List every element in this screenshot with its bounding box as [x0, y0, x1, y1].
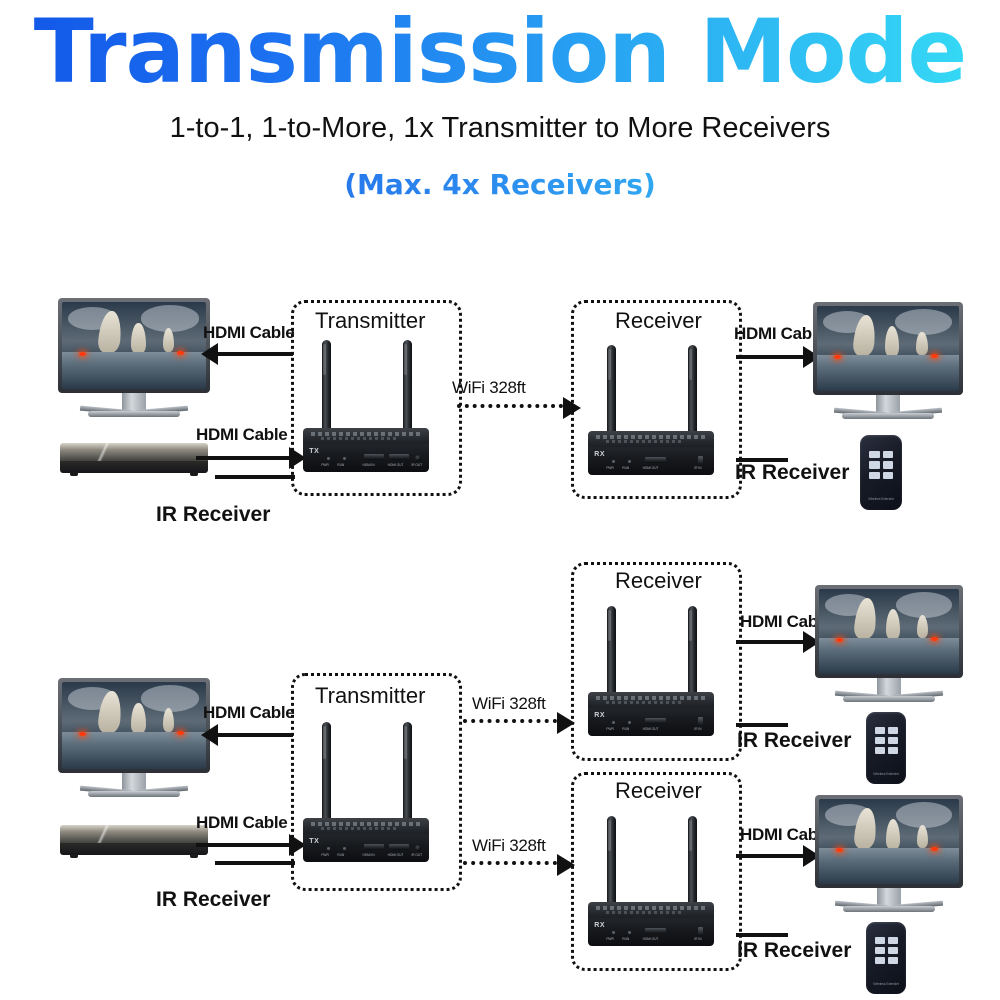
port-hdmi-out-2 — [389, 844, 409, 850]
remote-key[interactable] — [869, 461, 880, 468]
label-transmitter-2: Transmitter — [315, 683, 425, 709]
port-ir-in-1 — [698, 456, 703, 464]
remote-key[interactable] — [888, 957, 898, 964]
port-hdmi-out-1 — [389, 454, 409, 460]
port-hdmi-out-rx-1 — [645, 457, 666, 463]
receiver-device-bottom-2: RX PWR RUN HDMI OUT IR IN — [588, 816, 714, 946]
arrow-source-to-tx-2 — [196, 843, 290, 847]
remote-key[interactable] — [888, 727, 898, 734]
label-ir-receiver-1: IR Receiver — [156, 503, 270, 527]
remote-control-top-2[interactable]: Wireless Extender — [866, 712, 906, 784]
label-receiver-top-2: Receiver — [615, 568, 702, 594]
port-hdmi-in-1 — [364, 454, 384, 460]
label-hdmi-cable-source-2: HDMI Cable — [196, 813, 287, 833]
media-player-device — [60, 443, 208, 473]
label-ir-receiver-out-1: IR Receiver — [735, 461, 849, 485]
label-receiver-bottom-2: Receiver — [615, 778, 702, 804]
page-title: Transmission Mode — [0, 6, 1000, 98]
device-tag-tx-1: TX — [309, 448, 319, 455]
remote-key[interactable] — [875, 937, 885, 944]
port-label-pwr-1: PWR — [321, 463, 328, 467]
transmitter-device-2: TX PWR RUN HDMI IN HDMI OUT IR OUT — [303, 722, 429, 862]
label-wifi-bottom-2: WiFi 328ft — [472, 836, 546, 856]
monitor-bezel — [58, 298, 210, 393]
label-ir-receiver-out-bottom-2: IR Receiver — [737, 939, 851, 963]
port-ir-out-1 — [415, 455, 421, 461]
label-hdmi-cable-monitor-1: HDMI Cable — [203, 323, 294, 343]
port-label-run-rx-top-2: RUN — [622, 727, 629, 731]
label-receiver-1: Receiver — [615, 308, 702, 334]
monitor-base — [88, 411, 180, 417]
arrow-source-to-tx-1 — [196, 456, 290, 460]
port-label-pwr-rx-bottom-2: PWR — [606, 937, 613, 941]
port-label-run-2: RUN — [337, 853, 344, 857]
port-label-hdmi-out-rx-bottom-2: HDMI OUT — [643, 937, 659, 941]
port-label-pwr-rx-top-2: PWR — [606, 727, 613, 731]
label-transmitter-1: Transmitter — [315, 308, 425, 334]
port-label-hdmi-in-2: HDMI IN — [363, 853, 375, 857]
remote-key[interactable] — [875, 957, 885, 964]
label-hdmi-cable-monitor-2: HDMI Cable — [203, 703, 294, 723]
arrow-rx-to-monitor-top-2 — [736, 640, 804, 644]
page-subtitle-max: (Max. 4x Receivers) — [0, 168, 1000, 201]
monitor-display — [58, 298, 210, 418]
receiver-device-top-2: RX PWR RUN HDMI OUT IR IN — [588, 606, 714, 736]
monitor-screen-out-bottom-2 — [819, 799, 959, 884]
remote-key[interactable] — [875, 747, 885, 754]
remote-brand-1: Wireless Extender — [860, 497, 902, 501]
line-ir-to-tx-2 — [215, 861, 295, 865]
dotted-arrow-wifi-top-2 — [463, 719, 557, 723]
line-ir-to-tx-1 — [215, 475, 295, 479]
remote-control-1[interactable]: Wireless Extender — [860, 435, 902, 510]
port-label-hdmi-out-2: HDMI OUT — [388, 853, 404, 857]
port-label-run-rx-bottom-2: RUN — [622, 937, 629, 941]
port-ir-in-top-2 — [698, 717, 703, 725]
remote-control-bottom-2[interactable]: Wireless Extender — [866, 922, 906, 994]
port-hdmi-in-2 — [364, 844, 384, 850]
remote-key[interactable] — [888, 947, 898, 954]
arrow-hdmi-to-monitor-1 — [217, 352, 293, 356]
port-label-ir-in-1: IR IN — [694, 466, 701, 470]
remote-key[interactable] — [875, 947, 885, 954]
monitor-screen-out-top-2 — [819, 589, 959, 674]
label-hdmi-cable-source-1: HDMI Cable — [196, 425, 287, 445]
port-label-hdmi-out-rx-1: HDMI OUT — [643, 466, 659, 470]
remote-key[interactable] — [869, 472, 880, 479]
label-ir-receiver-out-top-2: IR Receiver — [737, 729, 851, 753]
label-ir-receiver-2: IR Receiver — [156, 888, 270, 912]
port-label-hdmi-out-1: HDMI OUT — [388, 463, 404, 467]
port-label-pwr-2: PWR — [321, 853, 328, 857]
page-header: Transmission Mode 1-to-1, 1-to-More, 1x … — [0, 0, 1000, 230]
monitor-display-out-top-2 — [815, 585, 963, 703]
label-hdmi-cable-out-1: HDMI Cable — [734, 324, 825, 344]
port-ir-in-bottom-2 — [698, 927, 703, 935]
media-player-device-2 — [60, 825, 208, 855]
remote-key[interactable] — [875, 737, 885, 744]
device-tag-rx-top-2: RX — [594, 712, 605, 719]
remote-key[interactable] — [883, 451, 894, 458]
arrow-hdmi-to-monitor-2 — [217, 733, 293, 737]
monitor-display-out-bottom-2 — [815, 795, 963, 913]
port-label-pwr-rx-1: PWR — [606, 466, 613, 470]
remote-key[interactable] — [888, 737, 898, 744]
label-wifi-1: WiFi 328ft — [452, 378, 526, 398]
port-label-run-1: RUN — [337, 463, 344, 467]
remote-key[interactable] — [869, 451, 880, 458]
dotted-arrow-wifi-bottom-2 — [463, 861, 557, 865]
monitor-bezel-out-1 — [813, 302, 963, 395]
monitor-neck — [122, 393, 146, 410]
receiver-device-1: RX PWR RUN HDMI OUT IR IN — [588, 345, 714, 475]
device-tag-rx-bottom-2: RX — [594, 922, 605, 929]
port-label-ir-out-1: IR OUT — [411, 463, 422, 467]
monitor-display-out-1 — [813, 302, 963, 420]
line-rx-ir-bottom-2 — [736, 933, 788, 937]
remote-brand-bottom-2: Wireless Extender — [866, 982, 906, 986]
device-tag-rx-1: RX — [594, 451, 605, 458]
monitor-display-2 — [58, 678, 210, 798]
dotted-arrow-wifi-1 — [457, 404, 563, 408]
monitor-bezel-2 — [58, 678, 210, 773]
port-hdmi-out-rx-bottom-2 — [645, 928, 666, 934]
port-label-ir-in-top-2: IR IN — [694, 727, 701, 731]
remote-key[interactable] — [883, 472, 894, 479]
arrow-rx-to-monitor-1 — [736, 355, 804, 359]
remote-brand-top-2: Wireless Extender — [866, 772, 906, 776]
device-tag-tx-2: TX — [309, 838, 319, 845]
transmitter-device-1: TX PWR RUN HDMI IN HDMI OUT IR OUT — [303, 340, 429, 472]
remote-key[interactable] — [888, 937, 898, 944]
port-label-hdmi-out-rx-top-2: HDMI OUT — [643, 727, 659, 731]
port-label-hdmi-in-1: HDMI IN — [363, 463, 375, 467]
remote-key[interactable] — [883, 461, 894, 468]
monitor-screen-out-1 — [817, 306, 959, 391]
remote-key[interactable] — [888, 747, 898, 754]
page-subtitle: 1-to-1, 1-to-More, 1x Transmitter to Mor… — [0, 112, 1000, 145]
monitor-bezel-out-bottom-2 — [815, 795, 963, 888]
label-wifi-top-2: WiFi 328ft — [472, 694, 546, 714]
port-label-ir-out-2: IR OUT — [411, 853, 422, 857]
port-label-run-rx-1: RUN — [622, 466, 629, 470]
monitor-bezel-out-top-2 — [815, 585, 963, 678]
port-ir-out-2 — [415, 845, 421, 851]
monitor-screen-2 — [62, 682, 206, 769]
arrow-rx-to-monitor-bottom-2 — [736, 854, 804, 858]
remote-key[interactable] — [875, 727, 885, 734]
line-rx-ir-top-2 — [736, 723, 788, 727]
monitor-screen — [62, 302, 206, 389]
port-hdmi-out-rx-top-2 — [645, 718, 666, 724]
port-label-ir-in-bottom-2: IR IN — [694, 937, 701, 941]
